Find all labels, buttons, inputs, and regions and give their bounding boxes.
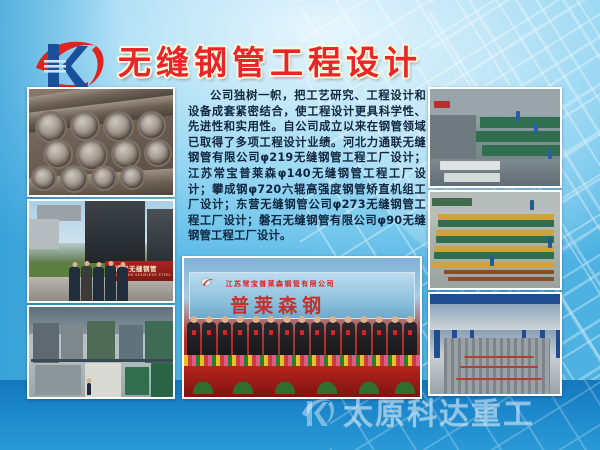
kd-logo-watermark-icon — [296, 394, 336, 428]
intro-paragraph: 公司独树一帜，把工艺研究、工程设计和设备成套紧密结合，使工程设计更具科学性、先进… — [188, 88, 426, 244]
ceremony-people-row — [184, 319, 420, 358]
page-title: 无缝钢管工程设计 — [118, 40, 448, 86]
photo-opening-ceremony: 江苏常宝普莱森钢管有限公司 普莱森钢 — [182, 256, 422, 399]
poster-root: 无缝钢管工程设计 公司独树一帜，把工艺研究、工程设计和设备成套紧密结合，使工程设… — [0, 0, 600, 450]
kd-logo-icon — [22, 32, 108, 94]
ceremony-banner-headline: 普莱森钢 — [230, 291, 326, 318]
photo-roller-conveyor-line — [428, 190, 562, 290]
brand-watermark-text: 太原科达重工 — [343, 389, 535, 433]
photo-factory-entrance-group: 力通联无缝钢管 LITONGLIAN SEAMLESS STEEL TUBE — [27, 199, 175, 303]
changbao-logo-icon — [201, 277, 214, 288]
photo-cooling-bed-hall — [428, 292, 562, 396]
photo-workshop-assembly — [428, 87, 562, 188]
ceremony-banner-company: 江苏常宝普莱森钢管有限公司 — [226, 279, 335, 289]
photo-seamless-steel-pipes — [27, 87, 175, 197]
brand-watermark: 太原科达重工 — [296, 388, 596, 434]
photo-pipe-production-line — [27, 305, 175, 399]
